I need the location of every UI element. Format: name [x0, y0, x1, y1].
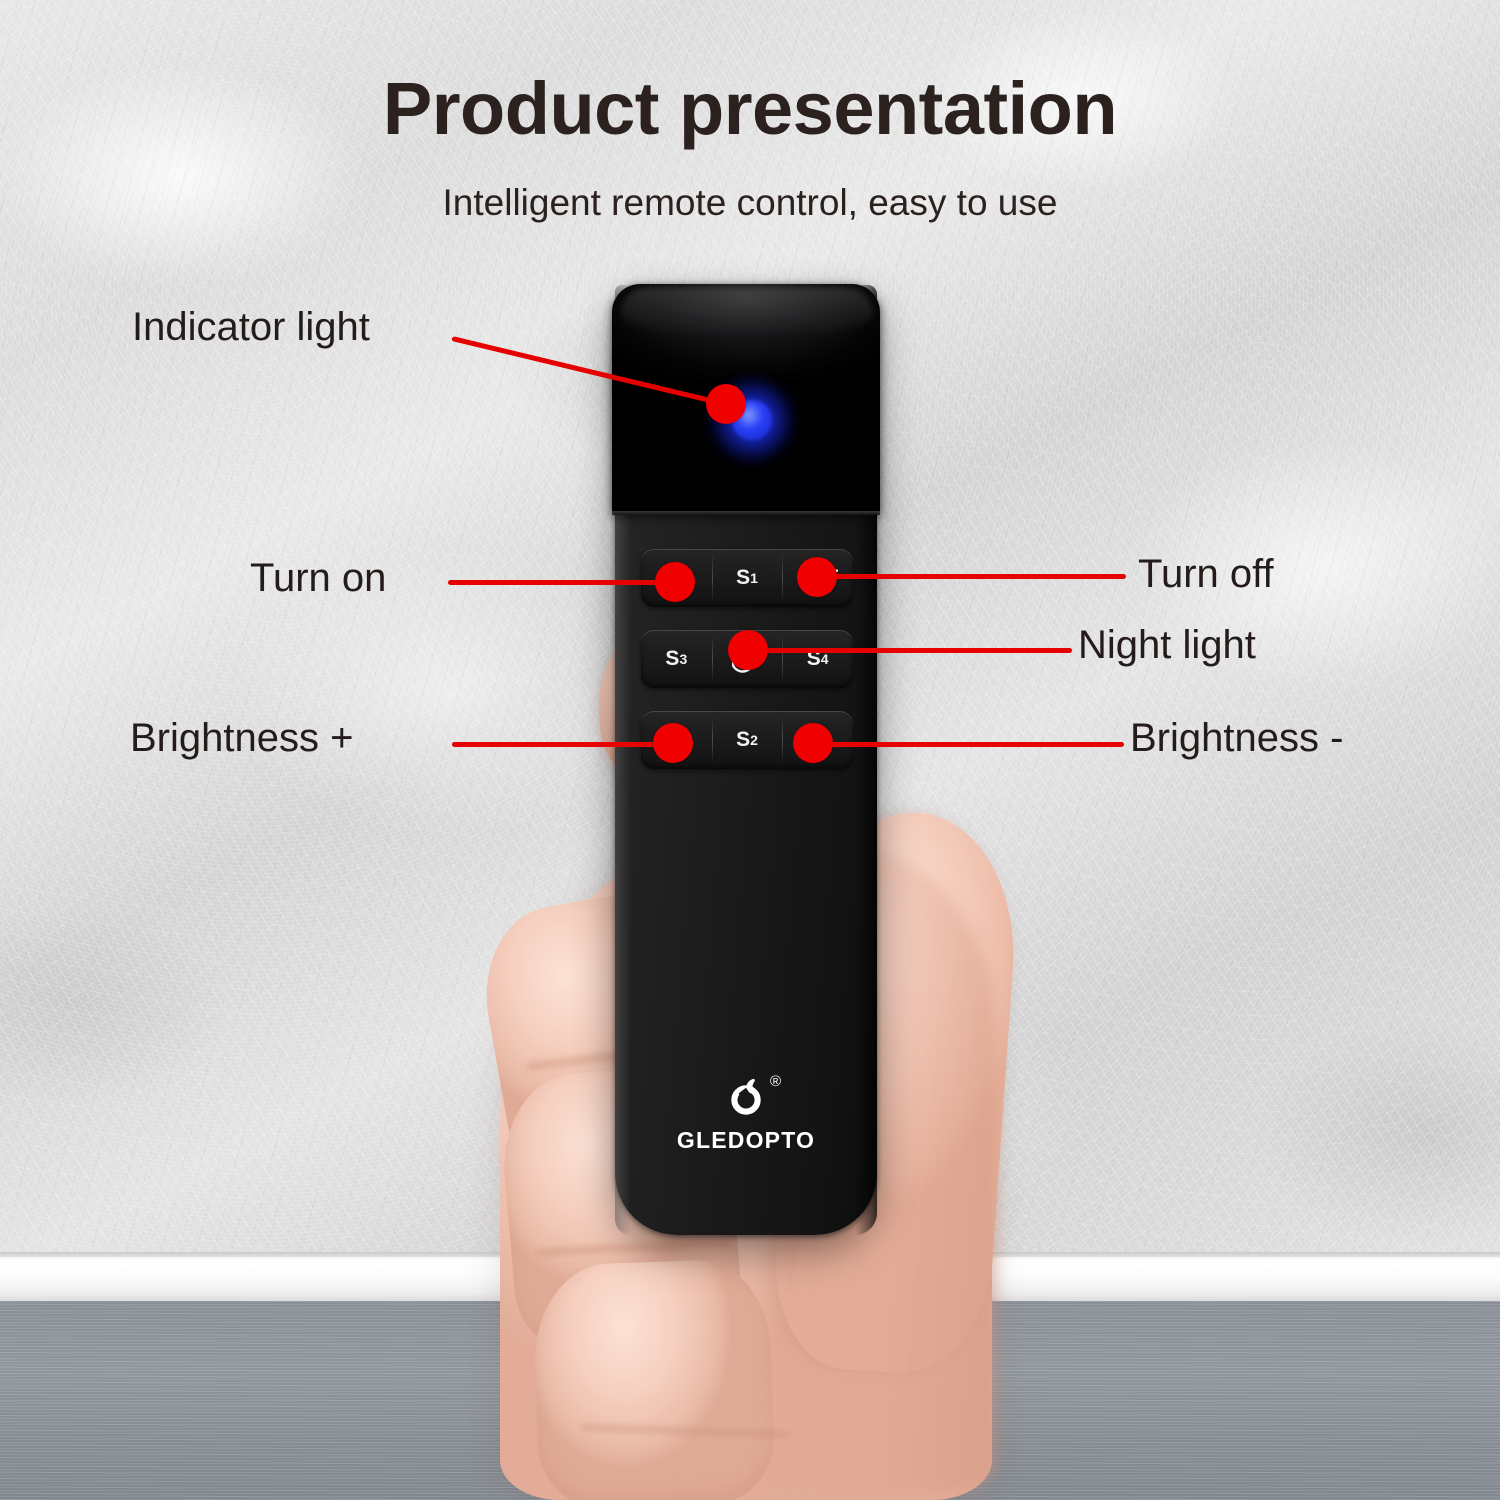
button-s1-label: S — [736, 566, 750, 590]
gledopto-g-logo-icon: ® — [723, 1075, 769, 1117]
product-presentation-scene: Product presentation Intelligent remote … — [0, 0, 1500, 1500]
button-s2[interactable]: S2 — [712, 711, 783, 769]
annotation-label-turn-on: Turn on — [250, 556, 386, 601]
annotation-dot-brightness-down — [793, 723, 833, 763]
remote-control-device: ON S1 OFF S3 S4 — [615, 285, 877, 1235]
leader-line-brightness-down — [818, 742, 1124, 747]
button-s4[interactable]: S4 — [782, 630, 853, 688]
annotation-dot-night-light — [728, 630, 768, 670]
button-s2-label: S — [736, 728, 750, 752]
finger-ring — [532, 1258, 776, 1500]
button-s3[interactable]: S3 — [641, 630, 712, 688]
button-s3-label: S — [665, 647, 679, 671]
annotation-label-night-light: Night light — [1078, 623, 1256, 668]
brand-name: GLEDOPTO — [615, 1127, 877, 1154]
leader-line-brightness-up — [452, 742, 684, 747]
annotation-label-brightness-down: Brightness - — [1130, 716, 1343, 761]
annotation-dot-indicator-light — [706, 384, 746, 424]
annotation-label-turn-off: Turn off — [1138, 552, 1274, 597]
annotation-label-indicator-light: Indicator light — [132, 305, 370, 350]
page-title: Product presentation — [0, 66, 1500, 151]
page-subtitle: Intelligent remote control, easy to use — [0, 182, 1500, 224]
panel-sheen — [621, 288, 873, 340]
button-s2-sub: 2 — [750, 732, 758, 748]
button-s4-sub: 4 — [821, 651, 829, 667]
button-s1-sub: 1 — [750, 570, 758, 586]
leader-line-night-light — [752, 648, 1072, 653]
panel-seam — [612, 511, 880, 515]
button-s1[interactable]: S1 — [712, 549, 783, 607]
leader-line-turn-on — [448, 580, 686, 585]
brand-block: ® GLEDOPTO — [615, 1075, 877, 1154]
annotation-label-brightness-up: Brightness + — [130, 716, 353, 761]
button-s3-sub: 3 — [679, 651, 687, 667]
annotation-dot-brightness-up — [653, 723, 693, 763]
leader-line-turn-off — [812, 574, 1126, 579]
annotation-dot-turn-on — [655, 562, 695, 602]
registered-trademark-symbol: ® — [770, 1073, 781, 1090]
annotation-dot-turn-off — [797, 557, 837, 597]
